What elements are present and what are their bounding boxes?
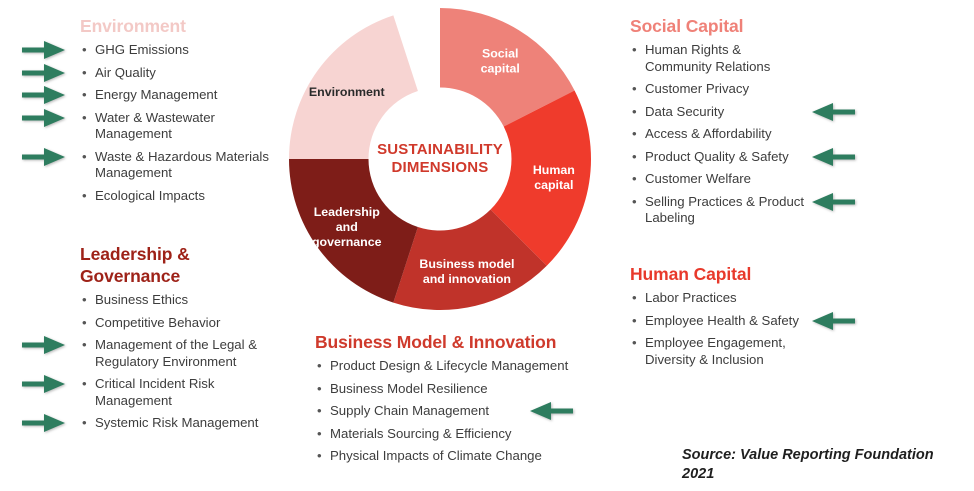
section-title-environment: Environment: [80, 16, 270, 37]
donut-segment-label-business-model: Business modeland innovation: [419, 257, 514, 286]
list-item: •Product Quality & Safety: [630, 149, 810, 166]
list-item-label: Access & Affordability: [645, 126, 772, 141]
center-title-line1: SUSTAINABILITY: [360, 141, 520, 159]
arrow-right-icon: [22, 374, 66, 394]
list-item: •Access & Affordability: [630, 126, 810, 143]
arrow-right-icon: [22, 40, 66, 60]
list-item: •Selling Practices & Product Labeling: [630, 194, 810, 227]
bullet-icon: •: [82, 110, 87, 127]
section-title-leadership-line2: Governance: [80, 265, 280, 287]
list-item-label: Supply Chain Management: [330, 403, 489, 418]
bullet-icon: •: [82, 376, 87, 393]
list-item-label: Customer Welfare: [645, 171, 751, 186]
section-title-social-capital: Social Capital: [630, 16, 810, 37]
arrow-left-icon: [530, 401, 574, 421]
arrow-right-icon: [22, 108, 66, 128]
source-line1: Source: Value Reporting Foundation: [682, 446, 974, 465]
list-item-label: Waste & Hazardous Materials Management: [95, 149, 269, 181]
donut-segment-label-social-capital: Socialcapital: [481, 47, 520, 76]
source-note: Source: Value Reporting Foundation 2021: [682, 446, 974, 484]
list-item: •Waste & Hazardous Materials Management: [80, 149, 270, 182]
list-item-label: Employee Engagement, Diversity & Inclusi…: [645, 335, 786, 367]
bullet-icon: •: [632, 335, 637, 352]
arrow-right-icon: [22, 85, 66, 105]
source-line2: 2021: [682, 465, 974, 484]
section-title-human-capital: Human Capital: [630, 264, 810, 285]
section-human-capital: Human Capital •Labor Practices•Employee …: [630, 264, 810, 374]
list-item: •Customer Privacy: [630, 81, 810, 98]
list-item-label: Water & Wastewater Management: [95, 110, 215, 142]
center-title-line2: DIMENSIONS: [360, 159, 520, 177]
bullet-icon: •: [317, 381, 322, 398]
bullet-icon: •: [82, 65, 87, 82]
list-item-label: Selling Practices & Product Labeling: [645, 194, 804, 226]
arrow-left-icon: [812, 192, 856, 212]
section-title-business-model-innovation: Business Model & Innovation: [315, 332, 615, 353]
list-item-label: Product Design & Lifecycle Management: [330, 358, 568, 373]
list-item-label: Business Model Resilience: [330, 381, 488, 396]
bullet-icon: •: [632, 313, 637, 330]
bullet-icon: •: [82, 87, 87, 104]
list-item: •Labor Practices: [630, 290, 810, 307]
arrow-right-icon: [22, 147, 66, 167]
list-item-label: Materials Sourcing & Efficiency: [330, 426, 512, 441]
list-item-label: Customer Privacy: [645, 81, 749, 96]
list-item-label: Ecological Impacts: [95, 188, 205, 203]
bullet-icon: •: [317, 403, 322, 420]
list-item: •Physical Impacts of Climate Change: [315, 448, 615, 465]
list-leadership-governance: •Business Ethics•Competitive Behavior•Ma…: [80, 292, 280, 432]
list-item: •Business Model Resilience: [315, 381, 615, 398]
bullet-icon: •: [317, 448, 322, 465]
bullet-icon: •: [82, 42, 87, 59]
list-item-label: Air Quality: [95, 65, 156, 80]
list-item: •Ecological Impacts: [80, 188, 270, 205]
list-item-label: Management of the Legal & Regulatory Env…: [95, 337, 257, 369]
bullet-icon: •: [82, 337, 87, 354]
list-item-label: Labor Practices: [645, 290, 737, 305]
section-social-capital: Social Capital •Human Rights & Community…: [630, 16, 810, 233]
list-item-label: Physical Impacts of Climate Change: [330, 448, 542, 463]
list-item-label: Critical Incident Risk Management: [95, 376, 214, 408]
list-item: •Critical Incident Risk Management: [80, 376, 280, 409]
section-title-leadership-governance: Leadership & Governance: [80, 243, 280, 287]
arrow-left-icon: [812, 311, 856, 331]
list-item: •Competitive Behavior: [80, 315, 280, 332]
bullet-icon: •: [632, 42, 637, 59]
list-item: •Water & Wastewater Management: [80, 110, 270, 143]
list-item: •Customer Welfare: [630, 171, 810, 188]
list-item-label: GHG Emissions: [95, 42, 189, 57]
list-item: •Employee Health & Safety: [630, 313, 810, 330]
list-item: •Product Design & Lifecycle Management: [315, 358, 615, 375]
list-environment: •GHG Emissions•Air Quality•Energy Manage…: [80, 42, 270, 204]
donut-segment-label-human-capital: Humancapital: [533, 163, 575, 192]
list-item-label: Product Quality & Safety: [645, 149, 789, 164]
bullet-icon: •: [82, 315, 87, 332]
donut-segment-label-environment: Environment: [309, 85, 385, 99]
bullet-icon: •: [632, 171, 637, 188]
donut-center-label: SUSTAINABILITY DIMENSIONS: [360, 141, 520, 177]
bullet-icon: •: [82, 188, 87, 205]
bullet-icon: •: [632, 126, 637, 143]
bullet-icon: •: [632, 290, 637, 307]
list-item-label: Human Rights & Community Relations: [645, 42, 770, 74]
arrow-right-icon: [22, 413, 66, 433]
bullet-icon: •: [632, 81, 637, 98]
section-leadership-governance: Leadership & Governance •Business Ethics…: [80, 243, 280, 438]
list-item: •Business Ethics: [80, 292, 280, 309]
list-item-label: Energy Management: [95, 87, 217, 102]
list-social-capital: •Human Rights & Community Relations•Cust…: [630, 42, 810, 227]
bullet-icon: •: [82, 292, 87, 309]
bullet-icon: •: [317, 426, 322, 443]
list-item: •Human Rights & Community Relations: [630, 42, 810, 75]
bullet-icon: •: [632, 104, 637, 121]
list-item: •Systemic Risk Management: [80, 415, 280, 432]
bullet-icon: •: [317, 358, 322, 375]
list-item: •Management of the Legal & Regulatory En…: [80, 337, 280, 370]
list-item: •GHG Emissions: [80, 42, 270, 59]
list-item: •Materials Sourcing & Efficiency: [315, 426, 615, 443]
arrow-left-icon: [812, 147, 856, 167]
list-item-label: Systemic Risk Management: [95, 415, 258, 430]
list-item-label: Data Security: [645, 104, 724, 119]
list-item: •Employee Engagement, Diversity & Inclus…: [630, 335, 810, 368]
bullet-icon: •: [82, 149, 87, 166]
list-item-label: Business Ethics: [95, 292, 188, 307]
section-title-leadership-line1: Leadership &: [80, 243, 280, 265]
arrow-left-icon: [812, 102, 856, 122]
list-item: •Air Quality: [80, 65, 270, 82]
list-item-label: Competitive Behavior: [95, 315, 220, 330]
list-item: •Energy Management: [80, 87, 270, 104]
arrow-right-icon: [22, 63, 66, 83]
bullet-icon: •: [632, 194, 637, 211]
section-environment: Environment •GHG Emissions•Air Quality•E…: [80, 16, 270, 210]
sustainability-dimensions-donut-chart: EnvironmentSocialcapitalHumancapitalBusi…: [287, 6, 593, 312]
list-item-label: Employee Health & Safety: [645, 313, 799, 328]
bullet-icon: •: [632, 149, 637, 166]
bullet-icon: •: [82, 415, 87, 432]
list-item: •Data Security: [630, 104, 810, 121]
list-human-capital: •Labor Practices•Employee Health & Safet…: [630, 290, 810, 368]
arrow-right-icon: [22, 335, 66, 355]
